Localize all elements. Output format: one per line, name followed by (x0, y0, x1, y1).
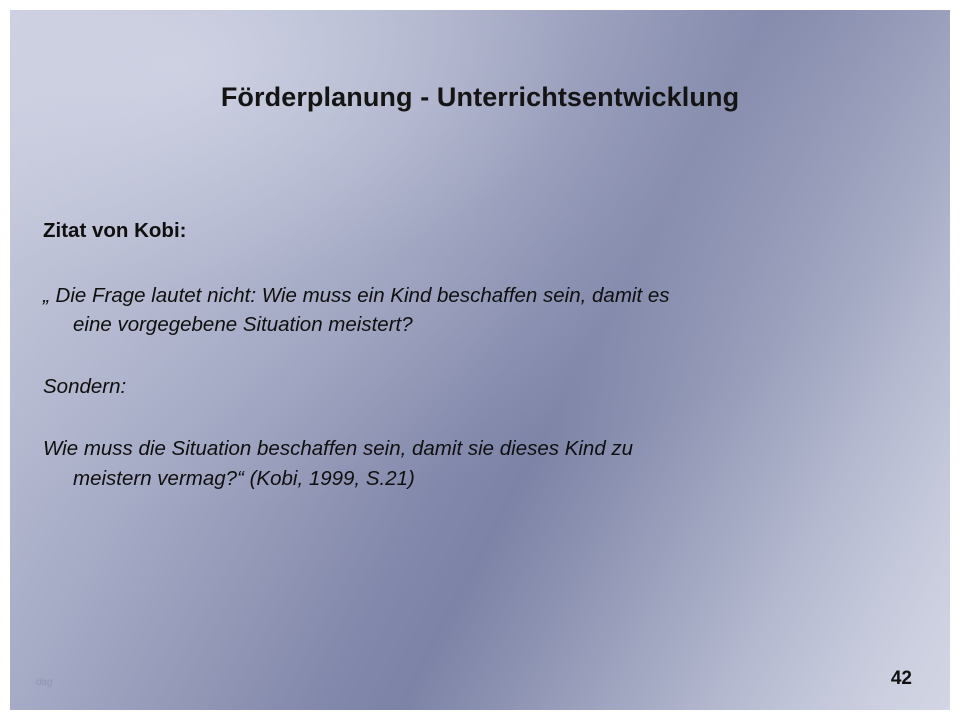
quote-answer-line-2: meistern vermag?“ (Kobi, 1999, S.21) (43, 464, 883, 493)
page-number: 42 (891, 668, 912, 690)
quote-answer: Wie muss die Situation beschaffen sein, … (43, 434, 883, 492)
slide-body: Zitat von Kobi: „ Die Frage lautet nicht… (43, 216, 883, 524)
quote-sondern: Sondern: (43, 372, 883, 401)
presentation-slide: Förderplanung - Unterrichtsentwicklung Z… (10, 10, 950, 710)
quote-answer-line-1: Wie muss die Situation beschaffen sein, … (43, 437, 633, 460)
page-title: Förderplanung - Unterrichtsentwicklung (10, 82, 950, 113)
quote-question-line-1: „ Die Frage lautet nicht: Wie muss ein K… (43, 284, 670, 307)
quote-question-line-2: eine vorgegebene Situation meistert? (43, 310, 883, 339)
quote-question: „ Die Frage lautet nicht: Wie muss ein K… (43, 281, 883, 339)
slide-frame: Förderplanung - Unterrichtsentwicklung Z… (0, 0, 960, 720)
footer-credit: dag (36, 677, 53, 688)
quote-heading: Zitat von Kobi: (43, 216, 883, 245)
